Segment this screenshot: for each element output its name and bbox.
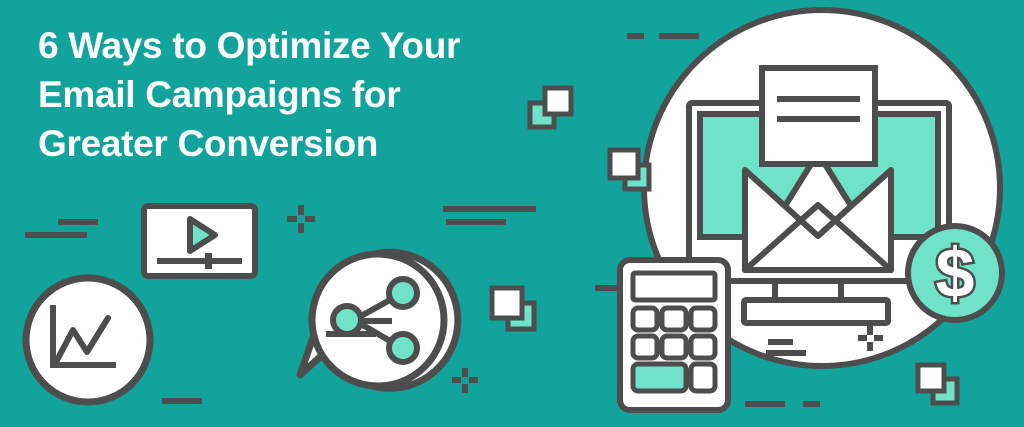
calculator-key: [633, 308, 657, 330]
dash-bottom-left: [162, 398, 202, 404]
dash-bottom-scene-short: [803, 401, 820, 407]
monitor-base: [744, 300, 888, 323]
calculator-key: [691, 336, 715, 358]
dash-scene-lower: [766, 350, 806, 356]
share-node-center: [333, 306, 361, 334]
calculator: [620, 260, 728, 410]
video-progress-handle: [205, 253, 212, 269]
calculator-display: [633, 273, 715, 300]
analytics-speech-bubble: [26, 278, 150, 402]
dash-left-mid: [595, 285, 620, 291]
share-node-bottom: [389, 334, 417, 362]
analytics-bubble-circle: [26, 278, 150, 402]
dash-bottom-scene-long: [745, 401, 785, 407]
square-white: [918, 365, 944, 391]
calculator-key: [662, 308, 686, 330]
dash-top-left-lower: [25, 232, 87, 238]
dollar-sign-icon: $: [936, 234, 975, 312]
dash-mid-lower: [446, 219, 506, 225]
calculator-key-accent: [633, 364, 686, 391]
dash-scene-upper: [768, 339, 793, 345]
page-title: 6 Ways to Optimize Your Email Campaigns …: [38, 22, 618, 168]
calculator-key: [691, 308, 715, 330]
dash-scene-top-short: [627, 33, 644, 39]
dash-center-lower: [326, 331, 376, 337]
dash-center-upper: [359, 318, 392, 324]
dollar-coin: $: [908, 226, 1002, 320]
dash-mid-upper: [443, 206, 536, 212]
share-node-top: [389, 279, 417, 307]
video-player: [144, 206, 255, 276]
calculator-key: [691, 364, 715, 391]
calculator-key: [633, 336, 657, 358]
dash-scene-top-long: [659, 33, 699, 39]
square-white: [492, 288, 522, 318]
email-campaign-banner: $: [0, 0, 1024, 427]
calculator-key: [662, 336, 686, 358]
dash-top-left-upper: [58, 219, 98, 225]
